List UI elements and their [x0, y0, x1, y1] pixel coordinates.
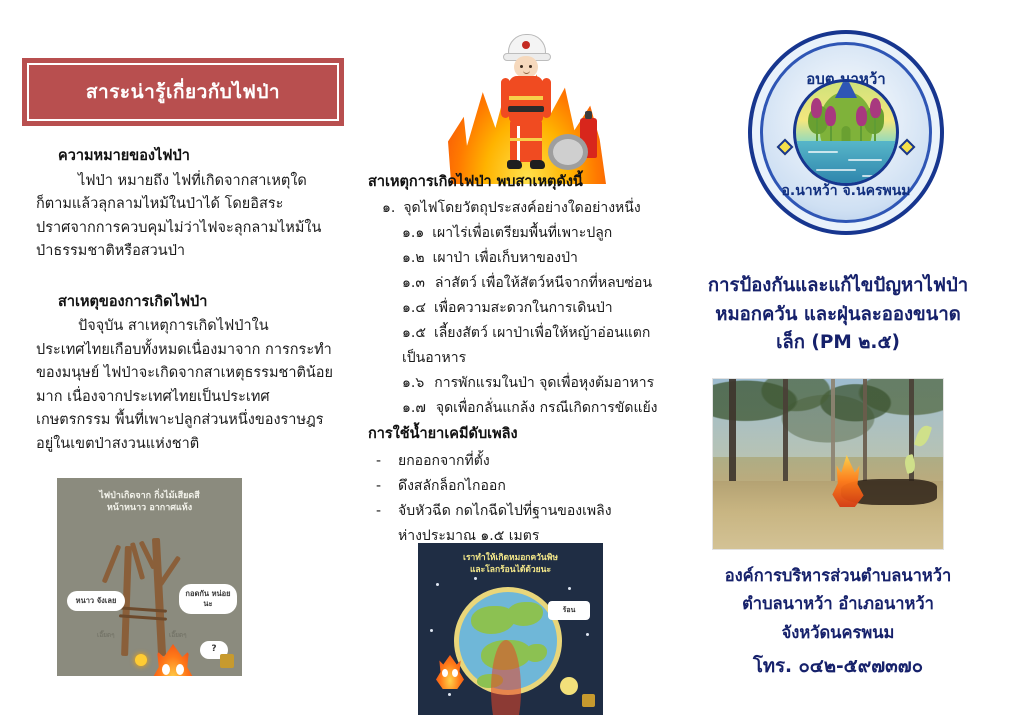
title-line-3: เล็ก (PM ๒.๕)	[660, 329, 1016, 358]
landmass	[525, 644, 547, 662]
landmass	[507, 602, 543, 626]
footer-line-2: ตำบลนาหว้า อำเภอนาหว้า	[660, 590, 1016, 618]
lotus-flower-icon	[811, 98, 822, 118]
list-item: ๑.๑ เผาไร่เพื่อเตรียมพื้นที่เพาะปลูก	[368, 221, 660, 246]
uniform-legs	[510, 120, 542, 162]
fire-hose-icon	[548, 134, 588, 170]
list-item-number: ๑.๓	[402, 271, 425, 296]
friction-sound-label-left: เอี๊ยดๆ	[97, 630, 115, 640]
page-title: สาระน่ารู้เกี่ยวกับไฟป่า	[86, 82, 280, 103]
title-line-1: การป้องกันและแก้ไขปัญหาไฟป่า	[660, 272, 1016, 301]
list-item: ๑.๓ ล่าสัตว์ เพื่อให้สัตว์หนีจากที่หลบซ่…	[368, 271, 660, 296]
spark-icon	[135, 654, 147, 666]
emblem-scene	[793, 79, 899, 186]
step-text: จับหัวฉีด กดไกฉีดไปที่ฐานของเพลิง	[398, 499, 660, 524]
star-icon	[474, 577, 477, 580]
forest-fire-photo	[712, 378, 944, 550]
lotus-flower-icon	[870, 98, 881, 118]
diamond-ornament-icon	[899, 139, 916, 156]
step-text: ยกออกจากที่ตั้ง	[398, 449, 660, 474]
list-item-text: ล่าสัตว์ เพื่อให้สัตว์หนีจากที่หลบซ่อน	[425, 271, 660, 296]
star-icon	[436, 583, 439, 586]
emblem-inner-ring: อบต.นาหว้า อ.นาหว้า จ.นครพนม	[760, 42, 932, 223]
list-item-number: ๑.๔	[402, 296, 426, 321]
list-item-text: การพักแรมในป่า จุดเพื่อหุงต้มอาหาร	[424, 371, 660, 396]
list-item-number: ๑.	[382, 196, 395, 221]
emblem-outer-ring: อบต.นาหว้า อ.นาหว้า จ.นครพนม	[748, 30, 944, 235]
step-marker: -	[376, 474, 398, 499]
list-item-continuation: เป็นอาหาร	[368, 346, 660, 371]
list-item: ๑.๗ จุดเพื่อกลั่นแกล้ง กรณีเกิดการขัดแย้…	[368, 396, 660, 421]
section-body-definition: ไฟป่า หมายถึง ไฟที่เกิดจากสาเหตุใดก็ตามแ…	[36, 170, 336, 264]
left-panel: สาระน่ารู้เกี่ยวกับไฟป่า ความหมายของไฟป่…	[0, 0, 352, 724]
title-line-2: หมอกควัน และฝุ่นละอองขนาด	[660, 301, 1016, 330]
list-item-number: ๑.๒	[402, 246, 425, 271]
middle-panel-body: สาเหตุการเกิดไฟป่า พบสาเหตุดังนี้ ๑. จุด…	[368, 172, 660, 549]
lotus-flower-icon	[856, 106, 867, 126]
header-banner-inner-border: สาระน่ารู้เกี่ยวกับไฟป่า	[27, 63, 339, 121]
cartoon-title: เราทำให้เกิดหมอกควันพิษ และโลกร้อนได้ด้ว…	[418, 553, 603, 577]
flame-eye-right	[176, 664, 184, 675]
organization-emblem: อบต.นาหว้า อ.นาหว้า จ.นครพนม	[748, 22, 944, 242]
step-marker: -	[376, 449, 398, 474]
arm-right	[542, 78, 551, 118]
step-item: - ดึงสลักล็อกไกออก	[368, 474, 660, 499]
list-item-text: เลี้ยงสัตว์ เผาป่าเพื่อให้หญ้าอ่อนแตก	[426, 321, 660, 346]
chemical-extinguisher-heading: การใช้น้ำยาเคมีดับเพลิง	[368, 422, 660, 445]
cartoon-title: ไฟป่าเกิดจาก กิ่งไม้เสียดสี หน้าหนาว อาก…	[57, 490, 242, 514]
left-panel-body: ความหมายของไฟป่า ไฟป่า หมายถึง ไฟที่เกิด…	[36, 146, 336, 456]
diamond-ornament-icon	[777, 139, 794, 156]
reflective-stripe	[509, 96, 543, 100]
wave-line	[816, 169, 856, 171]
earth-globe-icon	[454, 587, 562, 695]
list-item-text: เผาไร่เพื่อเตรียมพื้นที่เพาะปลูก	[424, 221, 660, 246]
speech-bubble-hug: กอดกัน หน่อยนะ	[179, 584, 237, 614]
water-motif	[796, 141, 896, 183]
eye-left	[520, 65, 523, 68]
friction-sound-label-right: เอี๊ยดๆ	[169, 630, 187, 640]
boot-right	[530, 160, 545, 169]
boot-left	[507, 160, 522, 169]
section-heading-causes: สาเหตุของการเกิดไฟป่า	[58, 292, 336, 314]
organization-footer: องค์การบริหารส่วนตำบลนาหว้า ตำบลนาหว้า อ…	[660, 562, 1016, 683]
list-item-number: ๑.๖	[402, 371, 424, 396]
star-icon	[568, 587, 571, 590]
wave-line	[808, 151, 838, 153]
list-item-text: เผาป่า เพื่อเก็บหาของป่า	[425, 246, 660, 271]
cartoon-title-line1: เราทำให้เกิดหมอกควันพิษ	[463, 553, 558, 563]
brochure-main-title: การป้องกันและแก้ไขปัญหาไฟป่า หมอกควัน แล…	[660, 272, 1016, 358]
face-icon	[514, 56, 538, 78]
list-item-text: เพื่อความสะดวกในการเดินป่า	[426, 296, 660, 321]
brochure-page: สาระน่ารู้เกี่ยวกับไฟป่า ความหมายของไฟป่…	[0, 0, 1024, 724]
belt-icon	[508, 106, 544, 112]
footer-line-3: จังหวัดนครพนม	[660, 619, 1016, 647]
star-icon	[448, 693, 451, 696]
step-marker: -	[376, 499, 398, 524]
section-body-causes: ปัจจุบัน สาเหตุการเกิดไฟป่าในประเทศไทยเก…	[36, 315, 336, 456]
section-heading-definition: ความหมายของไฟป่า	[58, 146, 336, 168]
list-item: ๑.๕ เลี้ยงสัตว์ เผาป่าเพื่อให้หญ้าอ่อนแต…	[368, 321, 660, 346]
list-item-number: ๑.๑	[402, 221, 424, 246]
firefighter-figure	[502, 34, 550, 152]
cartoon-title-line2: หน้าหนาว อากาศแห้ง	[107, 503, 192, 513]
publisher-logo-icon	[220, 654, 234, 668]
tree-branch-icon	[102, 545, 122, 584]
wave-line	[848, 159, 882, 161]
wave-line	[862, 175, 890, 177]
cartoon-scene: หนาว จังเลย กอดกัน หน่อยนะ ? เอี๊ยดๆ เอี…	[57, 536, 242, 676]
list-item-text: จุดไฟโดยวัตถุประสงค์อย่างใดอย่างหนึ่ง	[395, 196, 660, 221]
publisher-logo-icon	[582, 694, 595, 707]
list-item: ๑.๖ การพักแรมในป่า จุดเพื่อหุงต้มอาหาร	[368, 371, 660, 396]
list-item: ๑. จุดไฟโดยวัตถุประสงค์อย่างใดอย่างหนึ่ง	[368, 196, 660, 221]
header-banner: สาระน่ารู้เกี่ยวกับไฟป่า	[22, 58, 344, 126]
firefighter-illustration	[430, 14, 622, 184]
flame-eye-left	[162, 664, 170, 675]
cartoon-title-line1: ไฟป่าเกิดจาก กิ่งไม้เสียดสี	[99, 491, 199, 501]
speech-bubble-hot: ร้อน	[548, 601, 590, 620]
list-item: ๑.๔ เพื่อความสะดวกในการเดินป่า	[368, 296, 660, 321]
star-icon	[430, 629, 433, 632]
dry-branches-cartoon: ไฟป่าเกิดจาก กิ่งไม้เสียดสี หน้าหนาว อาก…	[57, 478, 242, 676]
cartoon-title-line2: และโลกร้อนได้ด้วยนะ	[470, 565, 551, 575]
step-text: ดึงสลักล็อกไกออก	[398, 474, 660, 499]
spacer	[36, 264, 336, 292]
smile	[523, 70, 530, 74]
tree-branch-icon	[152, 538, 166, 656]
flame-eye-right	[452, 669, 458, 677]
star-icon	[586, 633, 589, 636]
speech-bubble-cold: หนาว จังเลย	[67, 591, 125, 611]
footer-line-1: องค์การบริหารส่วนตำบลนาหว้า	[660, 562, 1016, 590]
eye-right	[529, 65, 532, 68]
step-item: - จับหัวฉีด กดไกฉีดไปที่ฐานของเพลิง	[368, 499, 660, 524]
lotus-flower-icon	[825, 106, 836, 126]
list-item-number: ๑.๗	[402, 396, 426, 421]
leg-split	[517, 126, 520, 162]
list-item-text: จุดเพื่อกลั่นแกล้ง กรณีเกิดการขัดแย้ง	[426, 396, 660, 421]
causes-list-heading: สาเหตุการเกิดไฟป่า พบสาเหตุดังนี้	[368, 172, 660, 192]
list-item-number: ๑.๕	[402, 321, 426, 346]
moon-icon	[560, 677, 578, 695]
list-item: ๑.๒ เผาป่า เพื่อเก็บหาของป่า	[368, 246, 660, 271]
flame-eye-left	[442, 669, 448, 677]
contact-phone: โทร. ๐๔๒-๕๙๗๓๗๐	[660, 651, 1016, 683]
reflective-stripe	[510, 138, 542, 141]
step-item: - ยกออกจากที่ตั้ง	[368, 449, 660, 474]
earth-smog-cartoon: เราทำให้เกิดหมอกควันพิษ และโลกร้อนได้ด้ว…	[418, 543, 603, 715]
